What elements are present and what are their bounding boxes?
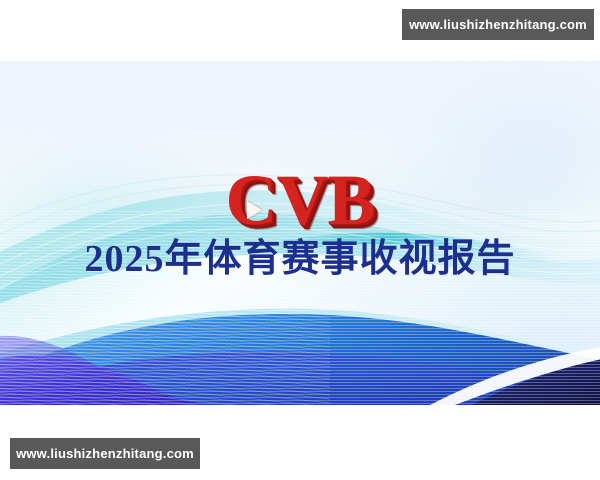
slide-cover-image: CVB 2025年体育赛事收视报告 xyxy=(0,61,600,405)
watermark-top: www.liushizhenzhitang.com xyxy=(402,9,594,40)
watermark-bottom-text: www.liushizhenzhitang.com xyxy=(16,446,194,461)
watermark-bottom: www.liushizhenzhitang.com xyxy=(10,438,200,469)
page-canvas: CVB 2025年体育赛事收视报告 www.liushizhenzhitang.… xyxy=(0,0,600,480)
slide-subtitle: 2025年体育赛事收视报告 xyxy=(0,240,600,280)
cvb-logo: CVB xyxy=(225,169,374,232)
play-triangle-icon xyxy=(247,201,262,219)
title-block: CVB 2025年体育赛事收视报告 xyxy=(0,169,600,280)
cvb-logo-text: CVB xyxy=(225,160,374,240)
watermark-top-text: www.liushizhenzhitang.com xyxy=(409,17,587,32)
